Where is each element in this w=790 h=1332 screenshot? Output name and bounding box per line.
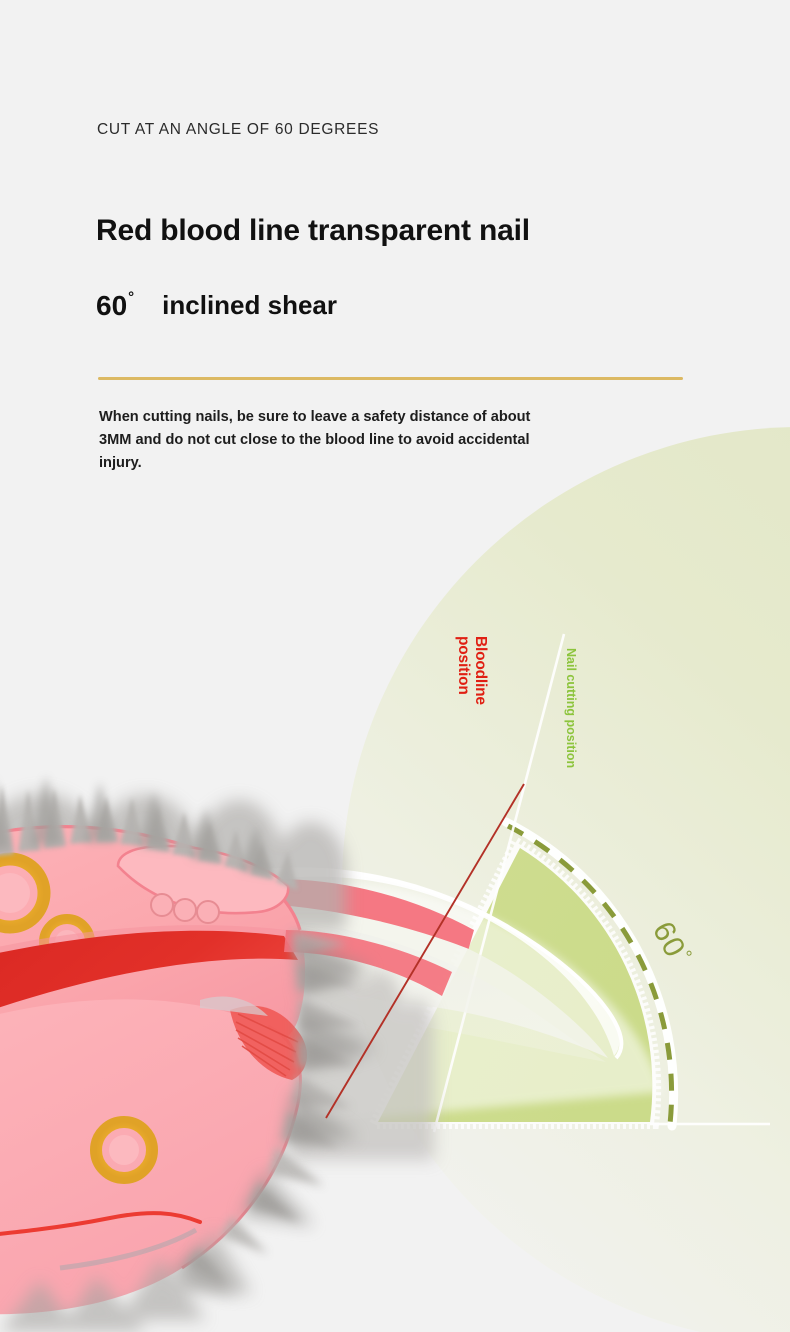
label-bloodline-position: Bloodline position (349, 636, 489, 756)
nail-cutting-label-text: Nail cutting position (564, 648, 578, 768)
gold-divider (98, 377, 683, 380)
label-nail-cutting-position: Nail cutting position (564, 648, 578, 808)
eyebrow-caption: CUT AT AN ANGLE OF 60 DEGREES (97, 121, 379, 139)
subtitle-text: inclined shear (162, 292, 337, 319)
product-infographic-page: Bloodline position Nail cutting position… (0, 0, 790, 1332)
subtitle-angle: 60 ° inclined shear (96, 292, 337, 320)
bloodline-label-line2: position (454, 636, 471, 756)
page-title: Red blood line transparent nail (96, 214, 530, 248)
subtitle-degree-symbol: ° (128, 290, 134, 305)
subtitle-number: 60 (96, 292, 127, 320)
body-paragraph: When cutting nails, be sure to leave a s… (99, 406, 559, 475)
bloodline-label-line1: Bloodline (472, 636, 489, 756)
